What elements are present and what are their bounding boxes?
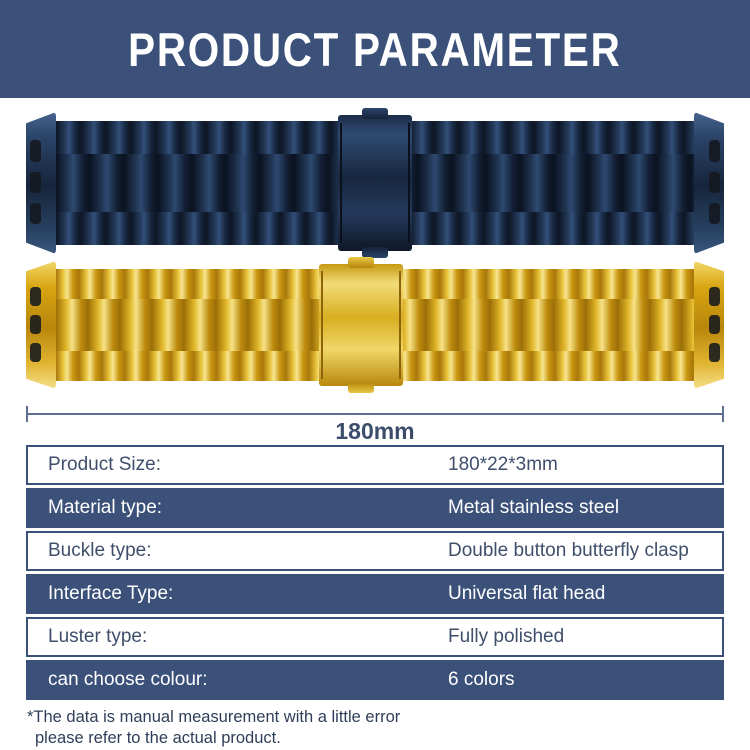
table-row: Product Size: 180*22*3mm [26, 445, 724, 485]
butterfly-clasp-dark [338, 115, 412, 251]
dimension-indicator: 180mm [26, 405, 724, 441]
band-links-right-gold [394, 269, 694, 382]
spec-value: 6 colors [448, 669, 515, 691]
watch-band-gold [26, 261, 724, 389]
spec-table: Product Size: 180*22*3mm Material type: … [26, 445, 724, 703]
disclaimer-line-1: *The data is manual measurement with a l… [27, 707, 727, 728]
spec-label: can choose colour: [28, 669, 448, 691]
disclaimer-line-2: please refer to the actual product. [27, 728, 727, 749]
watch-lug-left-icon [26, 112, 56, 254]
spec-value: 180*22*3mm [448, 454, 558, 476]
spec-label: Luster type: [28, 626, 448, 648]
page-title: PRODUCT PARAMETER [128, 22, 621, 77]
watch-lug-right-icon [694, 112, 724, 254]
table-row: Interface Type: Universal flat head [26, 574, 724, 614]
spec-value: Double button butterfly clasp [448, 540, 689, 562]
watch-band-dark-blue [26, 112, 724, 254]
dimension-label: 180mm [26, 418, 724, 445]
table-row: Buckle type: Double button butterfly cla… [26, 531, 724, 571]
table-row: Luster type: Fully polished [26, 617, 724, 657]
watch-lug-left-gold-icon [26, 261, 56, 389]
spec-label: Product Size: [28, 454, 448, 476]
spec-value: Universal flat head [448, 583, 605, 605]
band-links-left [56, 121, 366, 246]
table-row: Material type: Metal stainless steel [26, 488, 724, 528]
spec-label: Buckle type: [28, 540, 448, 562]
spec-value: Fully polished [448, 626, 564, 648]
product-image-area [0, 98, 750, 403]
butterfly-clasp-gold [319, 264, 403, 387]
disclaimer-note: *The data is manual measurement with a l… [27, 707, 727, 749]
watch-lug-right-gold-icon [694, 261, 724, 389]
spec-label: Material type: [28, 497, 448, 519]
spec-label: Interface Type: [28, 583, 448, 605]
band-links-right [384, 121, 694, 246]
page-header: PRODUCT PARAMETER [0, 0, 750, 98]
dimension-line [26, 413, 724, 415]
table-row: can choose colour: 6 colors [26, 660, 724, 700]
spec-value: Metal stainless steel [448, 497, 619, 519]
